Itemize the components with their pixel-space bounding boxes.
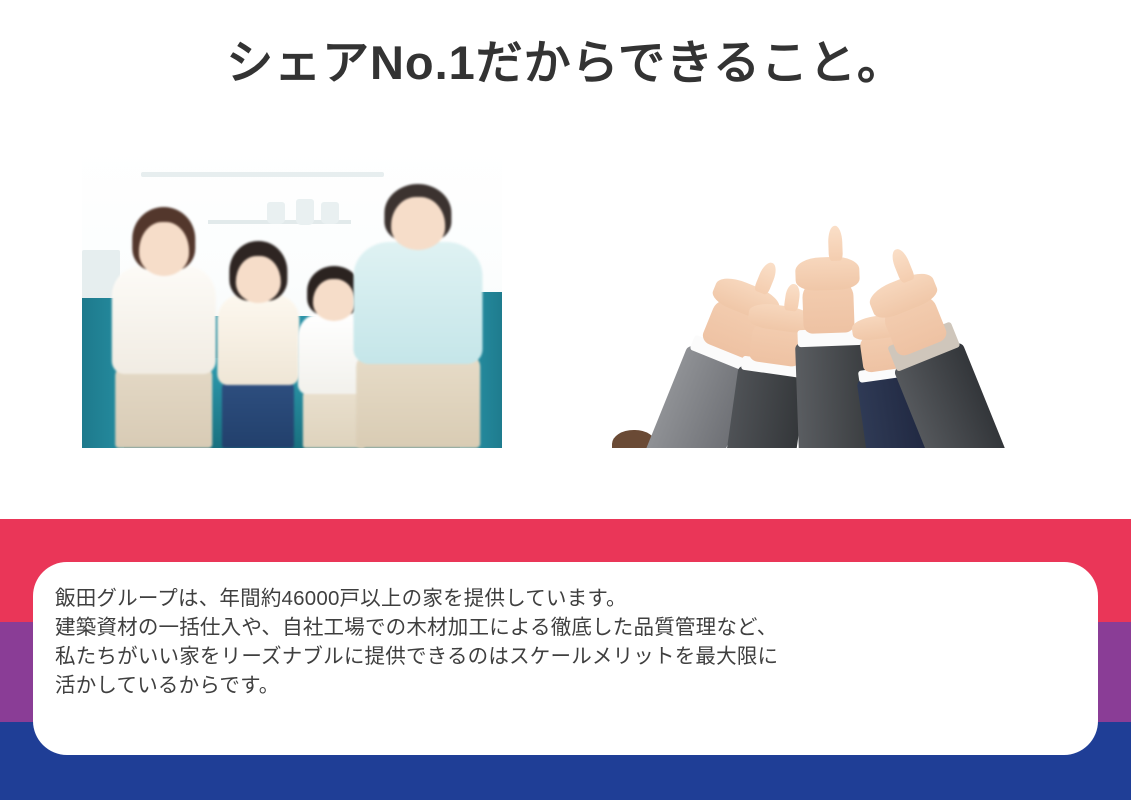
family-on-sofa-photo xyxy=(82,148,502,448)
cup-decoration xyxy=(267,202,285,224)
person-legs xyxy=(222,379,294,448)
person-torso xyxy=(218,295,299,386)
hands-stage xyxy=(608,195,1042,448)
shelf-decoration xyxy=(141,172,385,177)
index-finger xyxy=(888,247,914,283)
index-finger xyxy=(828,226,843,261)
person-daughter xyxy=(212,232,304,448)
person-father xyxy=(351,184,485,448)
photo-gallery xyxy=(0,148,1131,448)
person-legs xyxy=(356,353,480,448)
cup-decoration xyxy=(321,202,339,224)
page-root: シェアNo.1だからできること。 xyxy=(0,0,1131,800)
person-head xyxy=(236,256,280,304)
person-head xyxy=(313,279,355,321)
cup-decoration xyxy=(296,199,314,225)
description-line-1: 飯田グループは、年間約46000戸以上の家を提供しています。 xyxy=(55,584,1078,613)
description-line-2: 建築資材の一括仕入や、自社工場での木材加工による徹底した品質管理など、 xyxy=(55,613,1078,642)
person-mother xyxy=(107,202,220,448)
person-torso xyxy=(112,266,216,374)
description-card: 飯田グループは、年間約46000戸以上の家を提供しています。 建築資材の一括仕入… xyxy=(33,562,1098,755)
page-title: シェアNo.1だからできること。 xyxy=(0,34,1131,93)
person-torso xyxy=(353,242,482,363)
description-line-3: 私たちがいい家をリーズナブルに提供できるのはスケールメリットを最大限に xyxy=(55,642,1078,671)
pointing-hands-photo xyxy=(608,195,1042,448)
description-text: 飯田グループは、年間約46000戸以上の家を提供しています。 建築資材の一括仕入… xyxy=(55,584,1078,700)
fist xyxy=(795,255,860,290)
person-head xyxy=(391,197,445,250)
person-legs xyxy=(115,364,213,448)
person-head xyxy=(139,222,189,276)
description-line-4: 活かしているからです。 xyxy=(55,671,1078,700)
index-finger xyxy=(753,260,779,296)
